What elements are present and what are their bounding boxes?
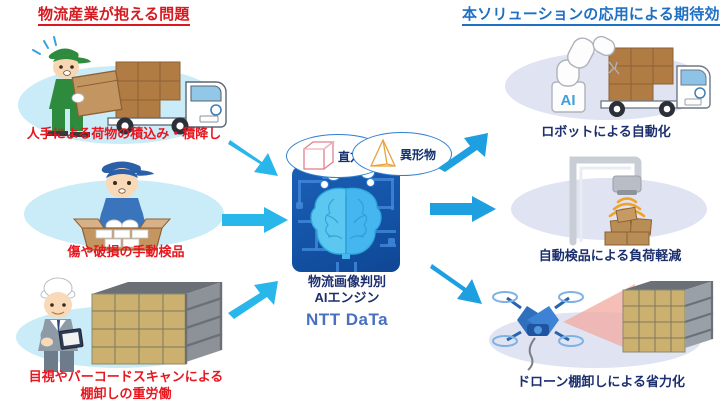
diagram-canvas: 物流産業が抱える問題 本ソリューションの応用による期待効果 — [0, 0, 720, 407]
effect-caption-auto-inspection: 自動検品による負荷軽減 — [505, 248, 715, 264]
effect-caption-drone-stocktaking: ドローン棚卸しによる省力化 — [485, 374, 717, 390]
problem-caption-manual-loading: 人手による荷物の積込み・積降し — [8, 126, 240, 142]
ntt-data-logo: NTT DaTa — [280, 310, 414, 330]
brain-icon — [306, 185, 386, 259]
overhead-scanner-icon — [505, 152, 715, 248]
pyramid-icon — [368, 138, 398, 170]
inbound-arrow-middle — [222, 207, 288, 233]
right-column-title: 本ソリューションの応用による期待効果 — [462, 3, 720, 24]
inbound-arrow-top — [228, 136, 286, 180]
left-column-title-text: 物流産業が抱える問題 — [38, 6, 190, 26]
effect-caption-robot-automation: ロボットによる自動化 — [497, 124, 715, 140]
inbound-arrow-bottom — [228, 277, 286, 321]
problem-caption-manual-stocktaking: 目視やバーコードスキャンによる 棚卸しの重労働 — [10, 368, 242, 402]
outbound-arrow-top — [436, 130, 492, 172]
stocktaking-worker-shelves-icon — [14, 276, 236, 372]
right-column-title-text: 本ソリューションの応用による期待効果 — [462, 6, 720, 26]
effect-card-drone-stocktaking — [485, 276, 717, 372]
effect-card-auto-inspection — [505, 152, 715, 248]
caption-line-2: 棚卸しの重労働 — [10, 385, 242, 402]
engine-name-line1: 物流画像判別 — [280, 274, 414, 290]
effect-card-robot-automation: AI — [497, 26, 715, 126]
problem-card-manual-inspection — [18, 156, 233, 252]
problem-caption-manual-inspection: 傷や破損の手動検品 — [18, 244, 234, 260]
cube-icon — [302, 140, 336, 172]
problem-card-manual-stocktaking — [14, 276, 236, 372]
engine-name-block: 物流画像判別 AIエンジン NTT DaTa — [280, 274, 414, 330]
outbound-arrow-bottom — [430, 260, 490, 308]
robot-truck-icon: AI — [497, 26, 715, 126]
engine-name-line2: AIエンジン — [280, 290, 414, 306]
drone-shelves-icon — [485, 276, 717, 372]
outbound-arrow-middle — [430, 196, 496, 222]
thought-label-irregular: 異形物 — [400, 146, 436, 163]
left-column-title: 物流産業が抱える問題 — [38, 3, 190, 24]
thought-dot-small-2 — [366, 178, 375, 187]
ai-badge-label: AI — [561, 92, 576, 109]
inspector-worker-icon — [18, 156, 233, 252]
thought-dot-small — [320, 180, 329, 189]
caption-line-1: 目視やバーコードスキャンによる — [10, 368, 242, 385]
